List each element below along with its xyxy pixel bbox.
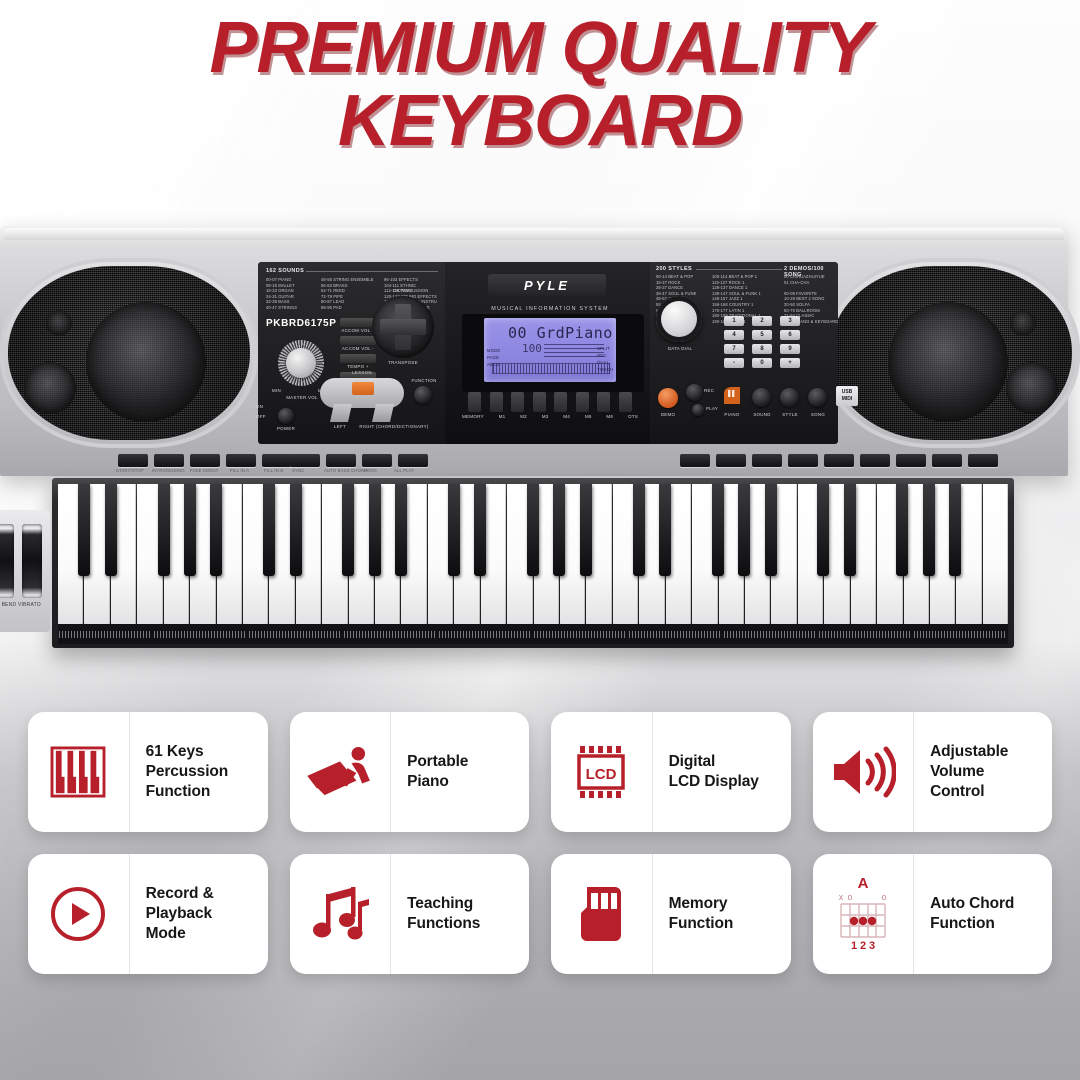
feature-label-6: MemoryFunction: [653, 854, 791, 974]
numpad-key-5[interactable]: 5: [752, 330, 772, 340]
black-key[interactable]: [580, 484, 592, 576]
black-key[interactable]: [105, 484, 117, 576]
portable-piano-icon: [303, 746, 377, 798]
numpad-key-8[interactable]: 8: [752, 344, 772, 354]
numpad-key-6[interactable]: 6: [780, 330, 800, 340]
numpad-key-1[interactable]: 1: [724, 316, 744, 326]
octave-transpose-group: [372, 296, 434, 358]
feature-icon-6: [551, 854, 653, 974]
numpad-row: 4 5 6: [724, 330, 800, 340]
feature-label-7: Auto ChordFunction: [914, 854, 1052, 974]
sounds-column-1: 00-07 PIANO08-15 MALLET16-23 ORGAN24-31 …: [266, 277, 297, 311]
lcd-tag-abcd: ABCD: [487, 362, 500, 367]
numpad-key-9[interactable]: 9: [780, 344, 800, 354]
feature-label-4: Record &PlaybackMode: [130, 854, 268, 974]
black-key[interactable]: [765, 484, 777, 576]
feature-card-6[interactable]: MemoryFunction: [551, 854, 791, 974]
keyboard-mode-button[interactable]: [680, 454, 710, 467]
octave-label: OCTAVE: [372, 288, 434, 293]
power-switch[interactable]: [278, 408, 294, 424]
styles-panel-title: 200 STYLES: [656, 266, 692, 272]
black-key[interactable]: [263, 484, 275, 576]
feature-card-7[interactable]: A x o o: [813, 854, 1053, 974]
midi-label: MIDI: [842, 396, 853, 403]
all-play-button[interactable]: [398, 454, 428, 467]
lcd-tag-split: SPLIT: [597, 346, 613, 351]
feature-card-0[interactable]: 61 KeysPercussionFunction: [28, 712, 268, 832]
feature-icon-2: LCD: [551, 712, 653, 832]
svg-text:3: 3: [869, 940, 875, 952]
right-tweeter: [1006, 362, 1058, 414]
sync-label: SYNC: [292, 468, 304, 473]
mid-button-row: [290, 454, 428, 467]
piano-keys-icon: [50, 746, 106, 798]
play-circle-icon: [49, 885, 107, 943]
keyboard-keys: [52, 478, 1014, 648]
right-mid-driver: [1010, 310, 1036, 336]
fill-in-a-button[interactable]: [226, 454, 256, 467]
svg-text:2: 2: [860, 940, 866, 952]
start-stop-button[interactable]: [118, 454, 148, 467]
memory-key[interactable]: [511, 392, 524, 412]
power-off-label: OFF: [256, 414, 266, 419]
fill-in-a-label: FILL IN A: [230, 468, 249, 473]
numpad-key-3[interactable]: 3: [780, 316, 800, 326]
lesson-label: LESSON: [320, 370, 404, 375]
memory-label: M4: [563, 414, 570, 419]
feature-label-1: PortablePiano: [391, 712, 529, 832]
auto-bass-chord-button[interactable]: [326, 454, 356, 467]
left-button-row: [118, 454, 292, 467]
master-volume-min-label: MIN: [272, 388, 281, 393]
play-button[interactable]: [692, 404, 704, 416]
memory-key[interactable]: [533, 392, 546, 412]
feature-icon-4: [28, 854, 130, 974]
vibrato-label: VIBRATO: [18, 602, 41, 608]
extra-button-2[interactable]: [896, 454, 926, 467]
function-knob[interactable]: [414, 386, 432, 404]
memory-key-row: [468, 392, 632, 412]
feature-label-5: TeachingFunctions: [391, 854, 529, 974]
numpad-key-7[interactable]: 7: [724, 344, 744, 354]
usb-label: USB: [842, 389, 853, 396]
keyboard-product-image: 162 SOUNDS 00-07 PIANO08-15 MALLET16-23 …: [0, 226, 1080, 678]
memory-label: M5: [585, 414, 592, 419]
feature-row-1: 61 KeysPercussionFunction PortablePiano: [28, 712, 1052, 832]
numpad-row: - 0 +: [724, 358, 800, 368]
transpose-label: TRANSPOSE: [368, 360, 438, 365]
fill-in-b-label: FILL IN B: [264, 468, 283, 473]
svg-text:LCD: LCD: [586, 766, 617, 783]
feature-icon-1: [290, 712, 392, 832]
dual-button[interactable]: [788, 454, 818, 467]
demo-button[interactable]: [658, 388, 678, 408]
brand-name: PYLE: [524, 278, 570, 293]
lcd-tag-rec: REC: [597, 353, 613, 358]
usb-midi-badge: USB MIDI: [836, 386, 858, 406]
memory-key[interactable]: [619, 392, 632, 412]
lcd-value: 100: [522, 342, 542, 355]
accom-vol-down-label: ACCOM VOL -: [340, 346, 376, 351]
accom-vol-down-button[interactable]: [340, 336, 376, 345]
feature-icon-0: [28, 712, 130, 832]
memory-label: M2: [520, 414, 527, 419]
left-speaker-grille: [8, 266, 250, 440]
feature-card-2[interactable]: LCD DigitalLCD Display: [551, 712, 791, 832]
fade-in-out-button[interactable]: [190, 454, 220, 467]
left-mid-driver: [46, 310, 72, 336]
feature-grid: 61 KeysPercussionFunction PortablePiano: [28, 712, 1052, 996]
guitar-chord-icon: A x o o: [832, 875, 894, 953]
product-marketing-image: PREMIUM QUALITY KEYBOARD 162 SOUNDS: [0, 0, 1080, 1080]
extra-button-1[interactable]: [860, 454, 890, 467]
pitch-bend-label: PITCH BEND: [0, 602, 16, 608]
feature-card-4[interactable]: Record &PlaybackMode: [28, 854, 268, 974]
black-key[interactable]: [712, 484, 724, 576]
vibrato-wheel[interactable]: [22, 524, 42, 598]
black-key[interactable]: [896, 484, 908, 576]
prog-label: PROG: [364, 468, 377, 473]
style-button[interactable]: [780, 388, 799, 407]
black-key[interactable]: [474, 484, 486, 576]
numpad-row: 1 2 3: [724, 316, 800, 326]
lesson-right-label: RIGHT (CHORD/DICTIONARY): [356, 424, 432, 429]
dpad-horizontal: [380, 319, 426, 335]
left-speaker: [0, 258, 258, 448]
master-volume-knob[interactable]: [286, 348, 316, 378]
display-caption: MUSICAL INFORMATION SYSTEM: [460, 306, 640, 312]
memory-labels: MEMORY M1 M2 M3 M4 M5 M6 OTS: [462, 414, 638, 419]
touch-button[interactable]: [716, 454, 746, 467]
lcd-tag-page: PAGE: [487, 355, 500, 360]
black-key[interactable]: [210, 484, 222, 576]
black-key[interactable]: [395, 484, 407, 576]
memory-key[interactable]: [597, 392, 610, 412]
rec-button[interactable]: [686, 384, 703, 401]
memory-key[interactable]: [490, 392, 503, 412]
memory-label: M1: [499, 414, 506, 419]
percussion-button[interactable]: [824, 454, 854, 467]
accom-vol-up-button[interactable]: [340, 318, 376, 327]
right-speaker: [822, 258, 1080, 448]
feature-row-2: Record &PlaybackMode TeachingFunc: [28, 854, 1052, 974]
right-woofer: [888, 302, 1008, 422]
feature-card-1[interactable]: PortablePiano: [290, 712, 530, 832]
data-dial[interactable]: [656, 296, 702, 342]
black-key[interactable]: [553, 484, 565, 576]
chord-label-strip: [58, 624, 1008, 644]
black-key[interactable]: [158, 484, 170, 576]
power-label: POWER: [266, 426, 306, 431]
black-key[interactable]: [78, 484, 90, 576]
black-key[interactable]: [949, 484, 961, 576]
panel-rule: [696, 269, 782, 270]
lcd-screen: 00 GrdPiano 100 MODE PAGE ABCD SPLIT REC…: [484, 318, 616, 382]
rec-label: REC: [704, 388, 714, 393]
feature-icon-5: [290, 854, 392, 974]
lcd-keyboard-strip: [492, 363, 610, 374]
numpad-key-plus[interactable]: +: [780, 358, 800, 368]
numpad-key-2[interactable]: 2: [752, 316, 772, 326]
right-button-row: [680, 454, 998, 467]
svg-text:o: o: [847, 892, 852, 902]
right-speaker-grille: [830, 266, 1072, 440]
model-number: PKBRD6175P: [266, 318, 336, 329]
black-key[interactable]: [817, 484, 829, 576]
lcd-tag-dual: DUAL: [597, 360, 613, 365]
memory-label: M3: [542, 414, 549, 419]
numpad-key-0[interactable]: 0: [752, 358, 772, 368]
piano-button-icon[interactable]: [720, 384, 744, 408]
lesson-indicator: [352, 382, 374, 395]
memory-label: M6: [606, 414, 613, 419]
svg-text:o: o: [881, 892, 886, 902]
lcd-preset-number: 00: [508, 324, 527, 342]
memory-key[interactable]: [554, 392, 567, 412]
intro-ending-label: INTRO/ENDING: [152, 468, 185, 473]
sound-button[interactable]: [752, 388, 771, 407]
black-key[interactable]: [290, 484, 302, 576]
black-key[interactable]: [527, 484, 539, 576]
wheel-panel: PITCH BEND VIBRATO: [0, 510, 50, 632]
lcd-tag-touch: TOUCH: [597, 367, 613, 372]
speaker-volume-icon: [830, 745, 896, 799]
music-notes-icon: [311, 886, 369, 942]
black-keys[interactable]: [58, 484, 1008, 576]
accom-vol-up-label: ACCOM VOL +: [340, 328, 376, 333]
play-label: PLAY: [706, 406, 718, 411]
black-key[interactable]: [659, 484, 671, 576]
prog-button[interactable]: [362, 454, 392, 467]
feature-label-2: DigitalLCD Display: [653, 712, 791, 832]
fade-in-out-label: FADE IN/OUT: [190, 468, 219, 473]
memory-label: MEMORY: [462, 414, 484, 419]
intro-ending-button[interactable]: [154, 454, 184, 467]
feature-icon-7: A x o o: [813, 854, 915, 974]
memory-key[interactable]: [468, 392, 481, 412]
svg-text:x: x: [839, 892, 844, 902]
feature-icon-3: [813, 712, 915, 832]
black-key[interactable]: [448, 484, 460, 576]
black-key[interactable]: [738, 484, 750, 576]
black-key[interactable]: [844, 484, 856, 576]
numeric-keypad: 1 2 3 4 5 6 7 8 9 - 0 +: [724, 316, 800, 372]
numpad-key-minus[interactable]: -: [724, 358, 744, 368]
black-key[interactable]: [184, 484, 196, 576]
black-key[interactable]: [342, 484, 354, 576]
black-key[interactable]: [369, 484, 381, 576]
data-dial-label: DATA DIAL: [654, 346, 706, 351]
memory-label: OTS: [628, 414, 638, 419]
headline-line-1: PREMIUM QUALITY: [0, 14, 1080, 83]
lesson-left-label: LEFT: [320, 424, 360, 429]
split-button[interactable]: [752, 454, 782, 467]
lcd-left-tags: MODE PAGE ABCD: [487, 348, 500, 367]
feature-label-0: 61 KeysPercussionFunction: [130, 712, 268, 832]
fill-in-b-button[interactable]: [262, 454, 292, 467]
headline: PREMIUM QUALITY KEYBOARD: [0, 14, 1080, 156]
song-label: SONG: [802, 412, 834, 417]
left-woofer: [86, 302, 206, 422]
brand-badge: PYLE: [488, 274, 606, 296]
function-label: FUNCTION: [404, 378, 444, 383]
auto-bass-chord-label: AUTO BASS CHORD: [324, 468, 367, 473]
left-tweeter: [24, 362, 76, 414]
lcd-preset: 00 GrdPiano: [508, 324, 613, 342]
feature-label-3: AdjustableVolumeControl: [914, 712, 1052, 832]
sync-button[interactable]: [290, 454, 320, 467]
song-button[interactable]: [808, 388, 827, 407]
panel-rule: [306, 271, 438, 272]
power-on-label: ON: [256, 404, 263, 409]
lcd-chip-icon: LCD: [571, 744, 631, 800]
sounds-panel-title: 162 SOUNDS: [266, 268, 304, 274]
chord-name: A: [857, 875, 868, 892]
lcd-preset-name: GrdPiano: [537, 324, 613, 342]
black-key[interactable]: [923, 484, 935, 576]
extra-button-4[interactable]: [968, 454, 998, 467]
black-key[interactable]: [633, 484, 645, 576]
lcd-tag-mode: MODE: [487, 348, 500, 353]
demo-label: DEMO: [650, 412, 686, 417]
piano-label: PIANO: [718, 412, 746, 417]
pitch-bend-wheel[interactable]: [0, 524, 14, 598]
start-stop-label: START/STOP: [116, 468, 144, 473]
extra-button-3[interactable]: [932, 454, 962, 467]
feature-card-3[interactable]: AdjustableVolumeControl: [813, 712, 1053, 832]
feature-card-5[interactable]: TeachingFunctions: [290, 854, 530, 974]
lcd-right-tags: SPLIT REC DUAL TOUCH: [597, 346, 613, 372]
numpad-key-4[interactable]: 4: [724, 330, 744, 340]
keyboard-top-edge: [4, 228, 1064, 240]
numpad-row: 7 8 9: [724, 344, 800, 354]
memory-card-icon: [577, 885, 625, 943]
memory-key[interactable]: [576, 392, 589, 412]
all-play-label: ALL PLAY: [394, 468, 414, 473]
headline-line-2: KEYBOARD: [0, 87, 1080, 156]
svg-text:1: 1: [851, 940, 857, 952]
sounds-column-2: 48-55 STRING ENSEMBLE56-63 BRASS64-71 RE…: [321, 277, 374, 311]
lcd-staff-lines: [544, 344, 604, 360]
